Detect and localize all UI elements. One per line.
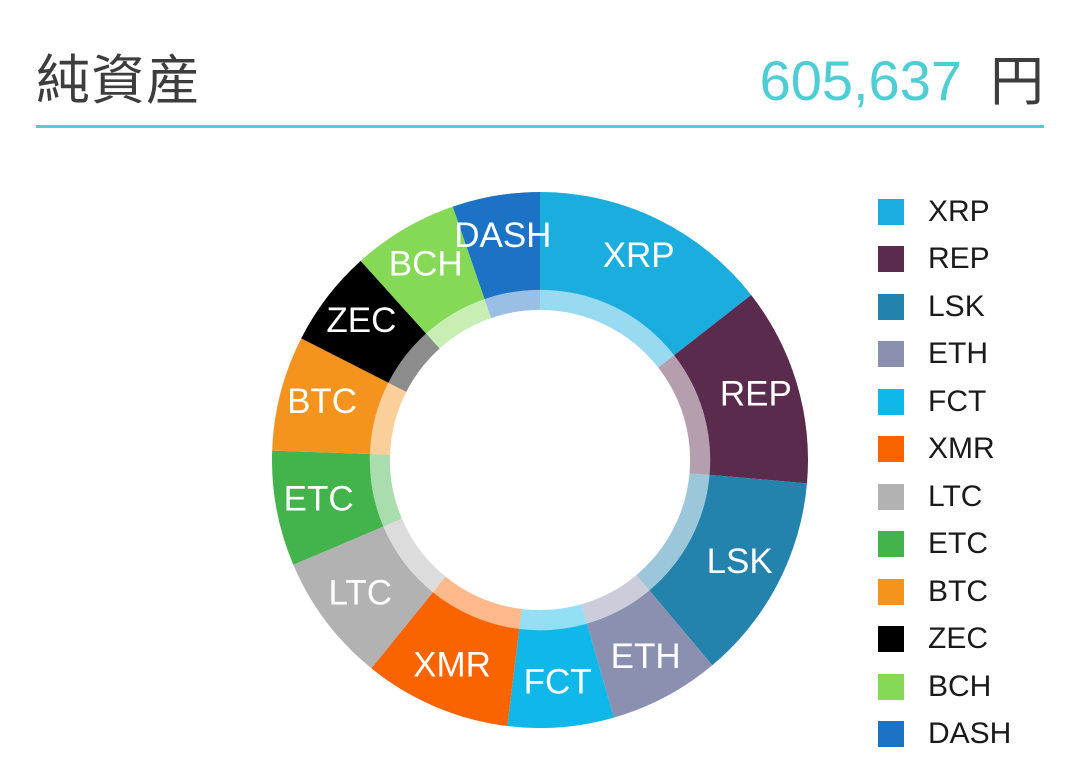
legend-item-xrp[interactable]: XRP (878, 188, 1068, 236)
donut-slice-label-zec: ZEC (326, 301, 396, 340)
donut-slice-label-lsk: LSK (707, 542, 773, 581)
legend-item-label: ETH (928, 339, 988, 369)
legend-swatch-icon (878, 531, 904, 557)
donut-inner-highlight-ring (370, 290, 710, 630)
legend-item-dash[interactable]: DASH (878, 711, 1068, 759)
legend-item-label: XMR (928, 434, 995, 464)
donut-slice-group (272, 192, 808, 728)
page-title: 純資産 (36, 54, 201, 108)
legend-item-btc[interactable]: BTC (878, 568, 1068, 616)
currency-unit-label: 円 (990, 55, 1044, 109)
donut-slice-label-eth: ETH (611, 637, 681, 676)
donut-slice-label-rep: REP (720, 374, 792, 413)
legend-swatch-icon (878, 389, 904, 415)
donut-slice-label-etc: ETC (284, 479, 354, 518)
legend-item-rep[interactable]: REP (878, 236, 1068, 284)
legend-item-etc[interactable]: ETC (878, 521, 1068, 569)
chart-legend: XRPREPLSKETHFCTXMRLTCETCBTCZECBCHDASH (878, 188, 1068, 758)
legend-item-label: LTC (928, 482, 982, 512)
legend-item-label: ETC (928, 529, 988, 559)
legend-swatch-icon (878, 721, 904, 747)
net-assets-amount: 605,637 (760, 53, 962, 109)
portfolio-chart-area: XRPREPLSKETHFCTXMRLTCETCBTCZECBCHDASH XR… (0, 150, 1080, 771)
legend-swatch-icon (878, 341, 904, 367)
legend-swatch-icon (878, 436, 904, 462)
legend-swatch-icon (878, 579, 904, 605)
net-assets-header: 純資産 605,637 円 (36, 36, 1044, 128)
donut-slice-label-ltc: LTC (328, 574, 392, 613)
legend-item-ltc[interactable]: LTC (878, 473, 1068, 521)
legend-item-label: DASH (928, 719, 1011, 749)
legend-swatch-icon (878, 626, 904, 652)
legend-swatch-icon (878, 294, 904, 320)
donut-slice-label-btc: BTC (287, 382, 357, 421)
legend-swatch-icon (878, 199, 904, 225)
legend-item-label: FCT (928, 387, 986, 417)
legend-item-label: BCH (928, 672, 991, 702)
legend-item-lsk[interactable]: LSK (878, 283, 1068, 331)
donut-slice-label-xmr: XMR (413, 645, 491, 684)
legend-item-label: LSK (928, 292, 985, 322)
legend-item-eth[interactable]: ETH (878, 331, 1068, 379)
donut-slice-label-bch: BCH (389, 244, 463, 283)
portfolio-donut-chart: XRPREPLSKETHFCTXMRLTCETCBTCZECBCHDASH (272, 192, 808, 728)
legend-item-bch[interactable]: BCH (878, 663, 1068, 711)
donut-slice-label-fct: FCT (524, 663, 592, 702)
legend-item-zec[interactable]: ZEC (878, 616, 1068, 664)
donut-slice-label-dash: DASH (454, 216, 551, 255)
legend-item-label: REP (928, 244, 990, 274)
legend-item-xmr[interactable]: XMR (878, 426, 1068, 474)
net-assets-value: 605,637 円 (760, 53, 1044, 109)
legend-item-label: BTC (928, 577, 988, 607)
donut-slice-label-xrp: XRP (603, 236, 675, 275)
legend-swatch-icon (878, 674, 904, 700)
legend-swatch-icon (878, 484, 904, 510)
legend-swatch-icon (878, 246, 904, 272)
legend-item-label: XRP (928, 197, 990, 227)
legend-item-fct[interactable]: FCT (878, 378, 1068, 426)
legend-item-label: ZEC (928, 624, 988, 654)
